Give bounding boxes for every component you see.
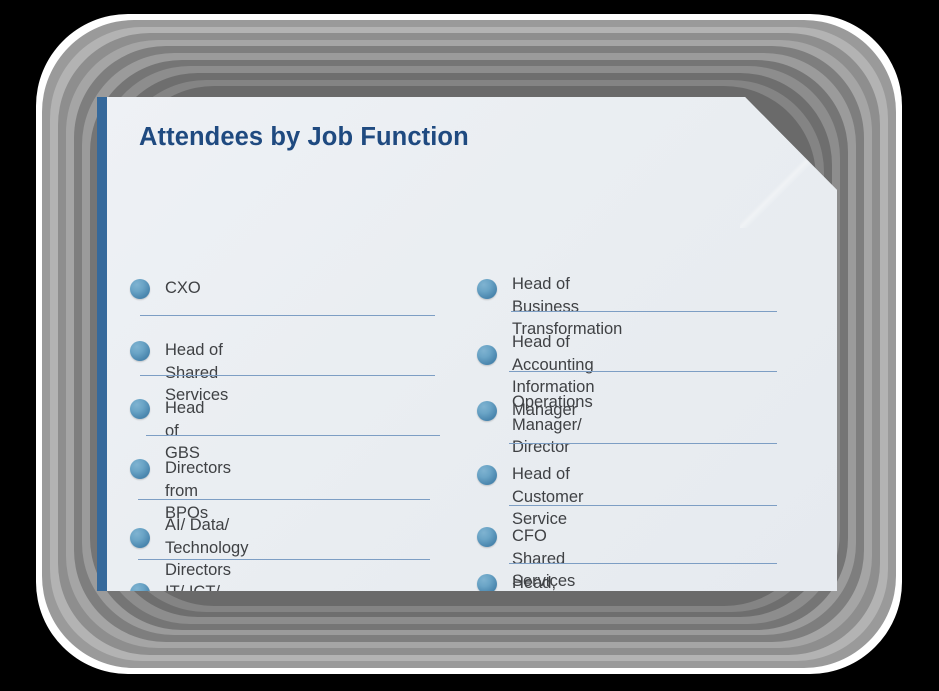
list-item-label: CXO — [165, 277, 201, 300]
list-item-label: Head, Planning & Business Solutions — [512, 572, 580, 591]
list-separator — [511, 311, 777, 312]
bullet-dot-icon — [130, 341, 150, 361]
list-separator — [140, 315, 435, 316]
bullet-dot-icon — [477, 574, 497, 591]
list-separator — [140, 375, 435, 376]
bullet-dot-icon — [130, 583, 150, 591]
bullet-dot-icon — [477, 401, 497, 421]
bullet-dot-icon — [477, 345, 497, 365]
list-separator — [509, 371, 777, 372]
bullet-dot-icon — [477, 279, 497, 299]
screenshot-canvas: Attendees by Job Function CXO Head of Sh… — [0, 0, 939, 691]
bullet-dot-icon — [130, 399, 150, 419]
bullet-dot-icon — [477, 465, 497, 485]
list-item-label: AI/ Data/ Technology Directors — [165, 514, 248, 582]
list-item-label: Head of Customer Service — [512, 463, 584, 531]
list-separator — [509, 563, 777, 564]
list-item-label: Operations Manager/ Director — [512, 391, 593, 459]
bullet-dot-icon — [477, 527, 497, 547]
list-separator — [138, 559, 430, 560]
bullet-dot-icon — [130, 459, 150, 479]
left-accent-bar — [97, 97, 107, 591]
list-separator — [509, 443, 777, 444]
list-separator — [146, 435, 440, 436]
card-content: Attendees by Job Function CXO Head of Sh… — [107, 97, 837, 591]
page-title: Attendees by Job Function — [139, 123, 469, 152]
bullet-dot-icon — [130, 279, 150, 299]
attendees-card: Attendees by Job Function CXO Head of Sh… — [97, 97, 837, 591]
list-item-label: Head of GBS — [165, 397, 204, 465]
bullet-dot-icon — [130, 528, 150, 548]
list-separator — [138, 499, 430, 500]
list-separator — [509, 505, 777, 506]
list-item-label: IT/ ICT/ Software — [165, 581, 230, 591]
